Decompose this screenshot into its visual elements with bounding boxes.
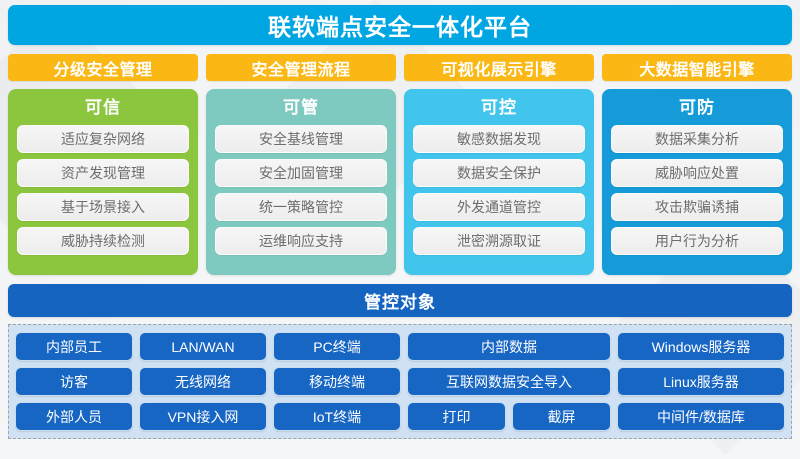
object-group-server: Windows服务器 Linux服务器 中间件/数据库 bbox=[617, 332, 785, 431]
capability-chip[interactable]: 用户行为分析 bbox=[611, 227, 783, 255]
capability-chip[interactable]: 数据安全保护 bbox=[413, 159, 585, 187]
column-head-control: 可视化展示引擎 bbox=[404, 54, 594, 81]
object-bar-title: 管控对象 bbox=[8, 284, 792, 317]
object-button[interactable]: 外部人员 bbox=[15, 402, 133, 431]
object-button[interactable]: 访客 bbox=[15, 367, 133, 396]
object-button[interactable]: IoT终端 bbox=[273, 402, 401, 431]
column-body-defend: 可防 数据采集分析 威胁响应处置 攻击欺骗诱捕 用户行为分析 bbox=[602, 89, 792, 275]
column-title-manage: 可管 bbox=[215, 95, 387, 121]
column-title-defend: 可防 bbox=[611, 95, 783, 121]
object-button[interactable]: 内部数据 bbox=[407, 332, 611, 361]
column-body-control: 可控 敏感数据发现 数据安全保护 外发通道管控 泄密溯源取证 bbox=[404, 89, 594, 275]
column-trust: 分级安全管理 可信 适应复杂网络 资产发现管理 基于场景接入 威胁持续检测 bbox=[8, 54, 198, 275]
object-button-screenshot[interactable]: 截屏 bbox=[512, 402, 611, 431]
capability-chip[interactable]: 基于场景接入 bbox=[17, 193, 189, 221]
platform-architecture-diagram: 联软端点安全一体化平台 分级安全管理 可信 适应复杂网络 资产发现管理 基于场景… bbox=[0, 0, 800, 459]
column-manage: 安全管理流程 可管 安全基线管理 安全加固管理 统一策略管控 运维响应支持 bbox=[206, 54, 396, 275]
object-button[interactable]: 中间件/数据库 bbox=[617, 402, 785, 431]
capability-chip[interactable]: 威胁响应处置 bbox=[611, 159, 783, 187]
object-group-terminal: PC终端 移动终端 IoT终端 bbox=[273, 332, 401, 431]
object-button[interactable]: Windows服务器 bbox=[617, 332, 785, 361]
capability-chip[interactable]: 运维响应支持 bbox=[215, 227, 387, 255]
object-button[interactable]: 移动终端 bbox=[273, 367, 401, 396]
object-button[interactable]: LAN/WAN bbox=[139, 332, 267, 361]
managed-objects-panel: 内部员工 访客 外部人员 LAN/WAN 无线网络 VPN接入网 PC终端 移动… bbox=[8, 324, 792, 439]
column-title-trust: 可信 bbox=[17, 95, 189, 121]
object-group-people: 内部员工 访客 外部人员 bbox=[15, 332, 133, 431]
capability-chip[interactable]: 安全基线管理 bbox=[215, 125, 387, 153]
object-button-print[interactable]: 打印 bbox=[407, 402, 506, 431]
capability-chip[interactable]: 敏感数据发现 bbox=[413, 125, 585, 153]
column-defend: 大数据智能引擎 可防 数据采集分析 威胁响应处置 攻击欺骗诱捕 用户行为分析 bbox=[602, 54, 792, 275]
capability-chip[interactable]: 数据采集分析 bbox=[611, 125, 783, 153]
capability-columns: 分级安全管理 可信 适应复杂网络 资产发现管理 基于场景接入 威胁持续检测 安全… bbox=[8, 54, 792, 275]
page-title: 联软端点安全一体化平台 bbox=[8, 5, 792, 45]
column-head-defend: 大数据智能引擎 bbox=[602, 54, 792, 81]
object-button[interactable]: 无线网络 bbox=[139, 367, 267, 396]
column-head-trust: 分级安全管理 bbox=[8, 54, 198, 81]
object-group-network: LAN/WAN 无线网络 VPN接入网 bbox=[139, 332, 267, 431]
object-button[interactable]: Linux服务器 bbox=[617, 367, 785, 396]
capability-chip[interactable]: 攻击欺骗诱捕 bbox=[611, 193, 783, 221]
capability-chip[interactable]: 统一策略管控 bbox=[215, 193, 387, 221]
column-body-manage: 可管 安全基线管理 安全加固管理 统一策略管控 运维响应支持 bbox=[206, 89, 396, 275]
column-control: 可视化展示引擎 可控 敏感数据发现 数据安全保护 外发通道管控 泄密溯源取证 bbox=[404, 54, 594, 275]
column-head-manage: 安全管理流程 bbox=[206, 54, 396, 81]
column-body-trust: 可信 适应复杂网络 资产发现管理 基于场景接入 威胁持续检测 bbox=[8, 89, 198, 275]
capability-chip[interactable]: 资产发现管理 bbox=[17, 159, 189, 187]
capability-chip[interactable]: 泄密溯源取证 bbox=[413, 227, 585, 255]
capability-chip[interactable]: 威胁持续检测 bbox=[17, 227, 189, 255]
capability-chip[interactable]: 外发通道管控 bbox=[413, 193, 585, 221]
object-button[interactable]: 内部员工 bbox=[15, 332, 133, 361]
column-title-control: 可控 bbox=[413, 95, 585, 121]
object-group-data: 内部数据 互联网数据安全导入 打印 截屏 bbox=[407, 332, 611, 431]
object-split-row: 打印 截屏 bbox=[407, 402, 611, 431]
object-button[interactable]: PC终端 bbox=[273, 332, 401, 361]
object-button[interactable]: VPN接入网 bbox=[139, 402, 267, 431]
object-button[interactable]: 互联网数据安全导入 bbox=[407, 367, 611, 396]
capability-chip[interactable]: 适应复杂网络 bbox=[17, 125, 189, 153]
capability-chip[interactable]: 安全加固管理 bbox=[215, 159, 387, 187]
